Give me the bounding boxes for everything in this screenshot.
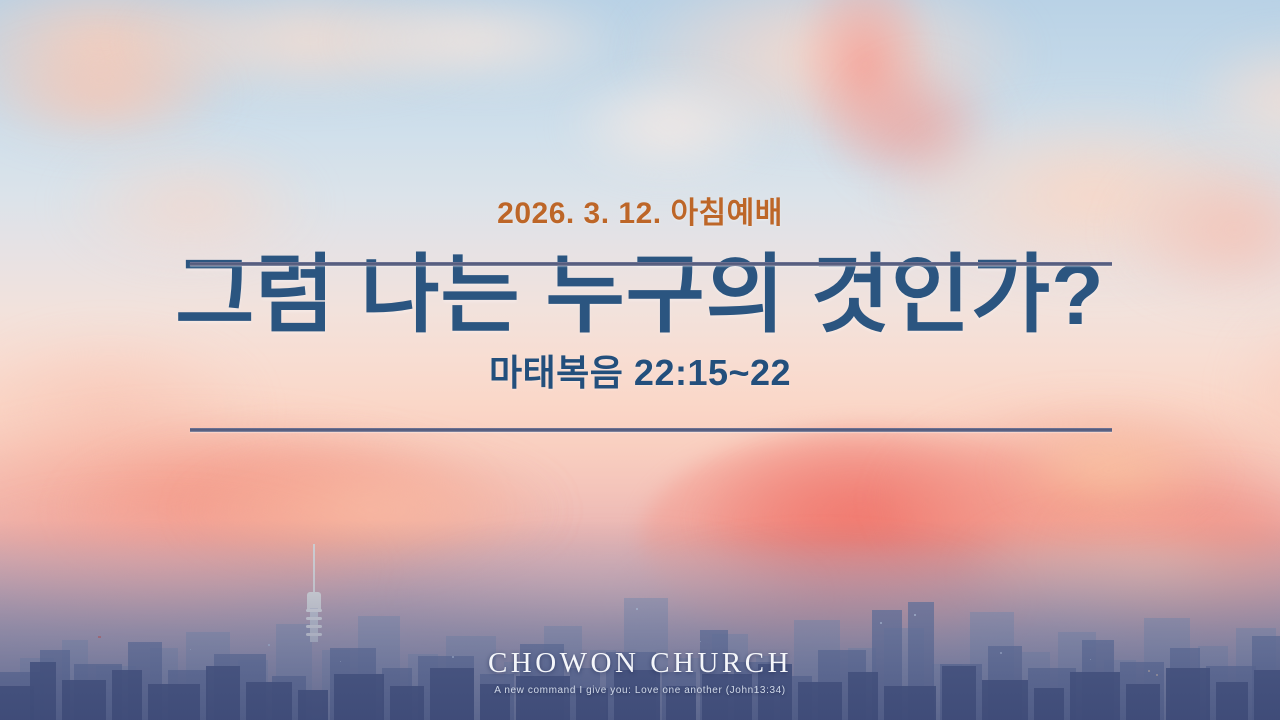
- window-light: [636, 608, 638, 610]
- church-name: CHOWON CHURCH: [0, 648, 1280, 680]
- divider-bottom: [190, 428, 1112, 432]
- church-logo: CHOWON CHURCH A new command I give you: …: [0, 648, 1280, 696]
- n-seoul-tower: [306, 578, 322, 642]
- tower-ring: [306, 633, 322, 636]
- window-light: [914, 614, 916, 616]
- window-light: [700, 641, 701, 642]
- window-light: [268, 644, 270, 646]
- scripture-reference: 마태복음 22:15~22: [0, 350, 1280, 395]
- window-light: [98, 636, 101, 638]
- title-block: 2026. 3. 12. 아침예배 그럼 나는 누구의 것인가? 마태복음 22…: [0, 196, 1280, 395]
- tower-ring: [306, 617, 322, 620]
- divider-top: [190, 262, 1112, 266]
- tower-mast: [313, 544, 315, 596]
- service-date-label: 2026. 3. 12. 아침예배: [0, 196, 1280, 232]
- church-tagline: A new command I give you: Love one anoth…: [0, 685, 1280, 696]
- window-light: [880, 622, 882, 624]
- tower-ring: [306, 625, 322, 628]
- worship-title-slide: 2026. 3. 12. 아침예배 그럼 나는 누구의 것인가? 마태복음 22…: [0, 0, 1280, 720]
- tower-ring: [306, 609, 322, 612]
